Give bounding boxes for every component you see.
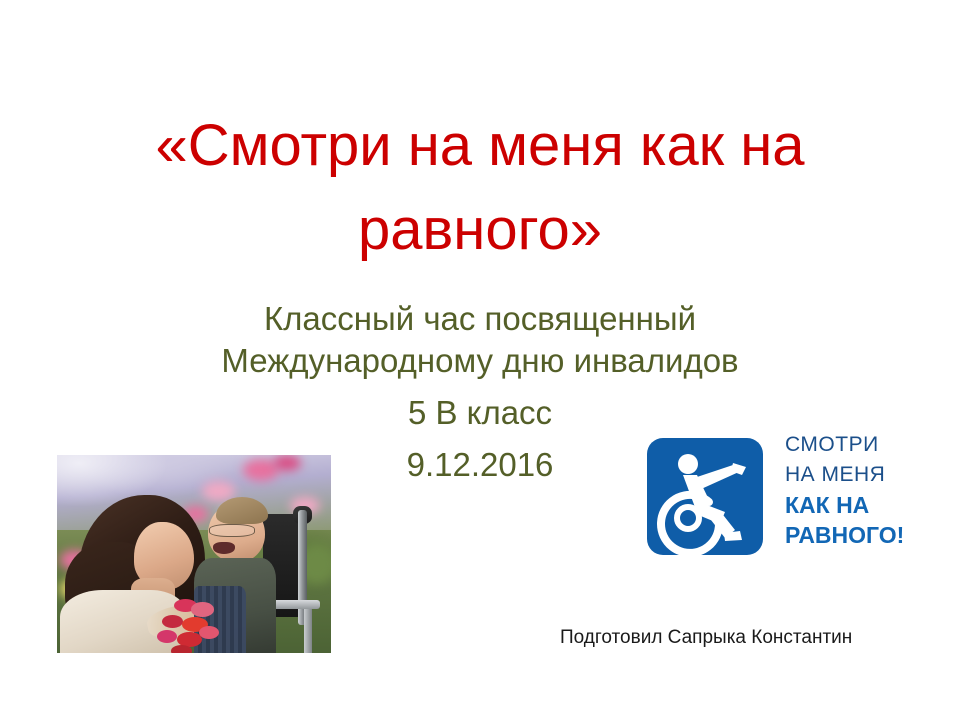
background-flower bbox=[202, 481, 235, 501]
bouquet-petal bbox=[191, 602, 214, 616]
bouquet-petal bbox=[162, 615, 183, 628]
logo-line-4: РАВНОГО! bbox=[785, 520, 925, 550]
subtitle-class: 5 В класс bbox=[120, 392, 840, 434]
campaign-logo: СМОТРИ НА МЕНЯ КАК НА РАВНОГО! bbox=[645, 436, 923, 558]
bouquet-petal bbox=[157, 630, 177, 643]
presentation-slide: «Смотри на меня как на равного» Классный… bbox=[0, 0, 960, 720]
child-glasses bbox=[209, 524, 255, 537]
flower-bouquet bbox=[156, 598, 233, 653]
photo-content bbox=[57, 455, 331, 653]
bouquet-petal bbox=[171, 645, 192, 653]
logo-line-2: НА МЕНЯ bbox=[785, 460, 925, 490]
subtitle-line-1: Классный час посвященный bbox=[120, 298, 840, 340]
slide-title: «Смотри на меня как на равного» bbox=[70, 104, 890, 272]
wheelchair-pointing-icon bbox=[647, 438, 763, 555]
logo-wordmark: СМОТРИ НА МЕНЯ КАК НА РАВНОГО! bbox=[785, 430, 925, 550]
author-credit: Подготовил Сапрыка Константин bbox=[560, 625, 852, 651]
bouquet-petal bbox=[199, 626, 219, 639]
photo-woman-and-child bbox=[57, 455, 331, 653]
title-line-1: «Смотри на меня как на bbox=[70, 104, 890, 188]
subtitle-line-2: Международному дню инвалидов bbox=[120, 340, 840, 382]
logo-line-1: СМОТРИ bbox=[785, 430, 925, 460]
wheelchair-frame-right bbox=[304, 609, 312, 653]
logo-line-3: КАК НА bbox=[785, 490, 925, 520]
child-mouth bbox=[213, 542, 235, 554]
background-flower bbox=[273, 455, 300, 471]
title-line-2: равного» bbox=[70, 188, 890, 272]
